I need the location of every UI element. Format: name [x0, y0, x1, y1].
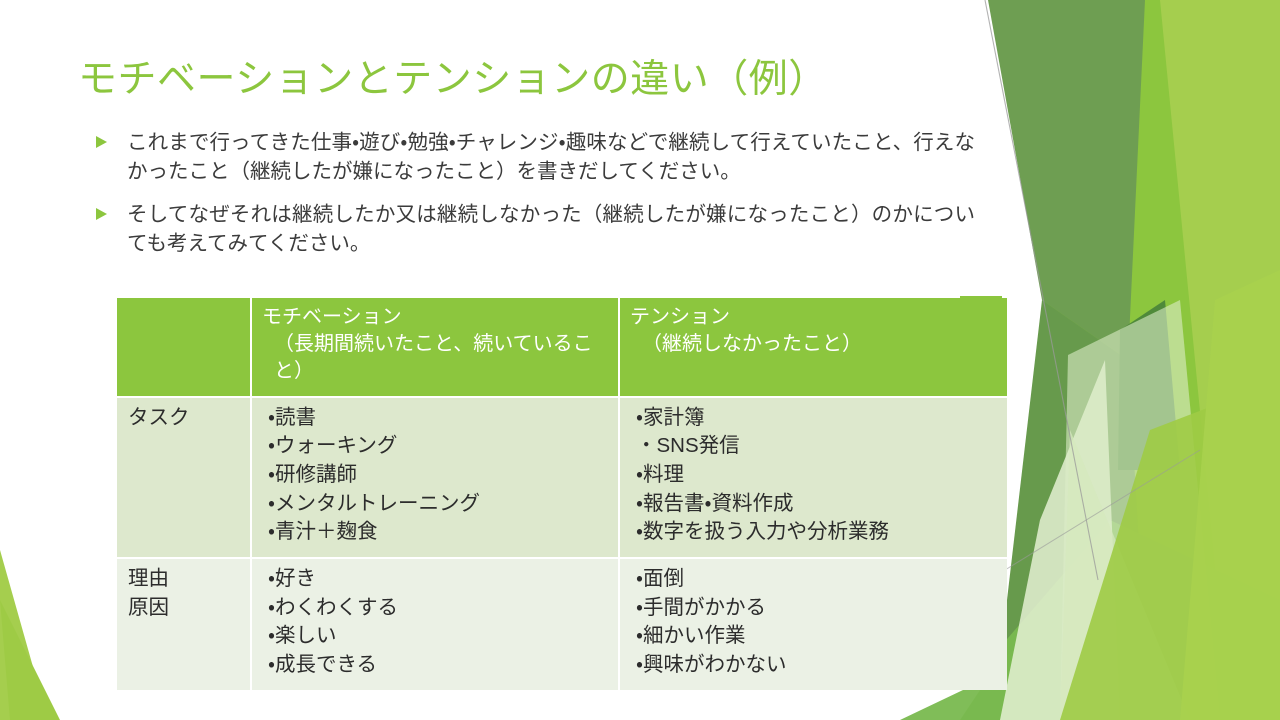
reason-motivation-list: ・好き ・わくわくする ・楽しい ・成長できる: [266, 565, 608, 680]
list-item: ・楽しい: [268, 622, 608, 651]
reason-tension-list: ・面倒 ・手間がかかる ・細かい作業 ・興味がわかない: [634, 565, 997, 680]
slide-title: モチベーションとテンションの違い（例）: [78, 57, 958, 103]
slide-content: モチベーションとテンションの違い（例） これまで行ってきた仕事・遊び・勉強・チャ…: [0, 0, 1280, 720]
list-item: ・興味がわかない: [636, 651, 997, 680]
task-tension-list: ・家計簿 ・SNS発信 ・料理 ・報告書・資料作成 ・数字を扱う入力や分析業務: [634, 404, 997, 547]
table-row: タスク ・読書 ・ウォーキング ・研修講師 ・メンタルトレーニング ・青汁＋麹食: [117, 398, 1007, 557]
table-cell-reason-tension: ・面倒 ・手間がかかる ・細かい作業 ・興味がわかない: [620, 559, 1007, 690]
table-header-motivation-main: モチベーション: [262, 306, 402, 328]
table-cell-reason-motivation: ・好き ・わくわくする ・楽しい ・成長できる: [252, 559, 618, 690]
list-item: ・家計簿: [636, 404, 997, 433]
list-item: ・好き: [268, 565, 608, 594]
list-item: ・研修講師: [268, 461, 608, 490]
triangle-right-bullet-icon: [95, 207, 108, 221]
list-item: ・面倒: [636, 565, 997, 594]
table-row: 理由 原因 ・好き ・わくわくする ・楽しい ・成長できる ・面倒: [117, 559, 1007, 690]
table-header-row: モチベーション （長期間続いたこと、続いていること） テンション （継続しなかっ…: [117, 298, 1007, 396]
table-header-tension-sub: （継続しなかったこと）: [630, 331, 997, 358]
table-header-tension-main: テンション: [630, 306, 730, 328]
list-item: ・数字を扱う入力や分析業務: [636, 518, 997, 547]
table-header-motivation-sub: （長期間続いたこと、続いていること）: [262, 331, 608, 385]
list-item: ・報告書・資料作成: [636, 490, 997, 519]
list-item: ・成長できる: [268, 651, 608, 680]
presentation-slide: モチベーションとテンションの違い（例） これまで行ってきた仕事・遊び・勉強・チャ…: [0, 0, 1280, 720]
bullet-list: これまで行ってきた仕事・遊び・勉強・チャレンジ・趣味などで継続して行えていたこと…: [95, 128, 975, 272]
table-header-tension: テンション （継続しなかったこと）: [620, 298, 1007, 396]
list-item: ・メンタルトレーニング: [268, 490, 608, 519]
bullet-item: これまで行ってきた仕事・遊び・勉強・チャレンジ・趣味などで継続して行えていたこと…: [95, 128, 975, 186]
triangle-right-bullet-icon: [95, 135, 108, 149]
list-item: ・わくわくする: [268, 594, 608, 623]
table-row-label-reason: 理由 原因: [117, 559, 250, 690]
task-motivation-list: ・読書 ・ウォーキング ・研修講師 ・メンタルトレーニング ・青汁＋麹食: [266, 404, 608, 547]
list-item: ・細かい作業: [636, 622, 997, 651]
list-item: ・読書: [268, 404, 608, 433]
list-item: ・料理: [636, 461, 997, 490]
list-item: ・SNS発信: [636, 432, 997, 461]
table-cell-task-motivation: ・読書 ・ウォーキング ・研修講師 ・メンタルトレーニング ・青汁＋麹食: [252, 398, 618, 557]
bullet-text: そしてなぜそれは継続したか又は継続しなかった（継続したが嫌になったこと）のかにつ…: [127, 200, 975, 258]
bullet-item: そしてなぜそれは継続したか又は継続しなかった（継続したが嫌になったこと）のかにつ…: [95, 200, 975, 258]
table-row-label-task: タスク: [117, 398, 250, 557]
list-item: ・青汁＋麹食: [268, 518, 608, 547]
list-item: ・ウォーキング: [268, 432, 608, 461]
table-cell-task-tension: ・家計簿 ・SNS発信 ・料理 ・報告書・資料作成 ・数字を扱う入力や分析業務: [620, 398, 1007, 557]
comparison-table-wrapper: モチベーション （長期間続いたこと、続いていること） テンション （継続しなかっ…: [115, 296, 1001, 692]
list-item: ・手間がかかる: [636, 594, 997, 623]
bullet-text: これまで行ってきた仕事・遊び・勉強・チャレンジ・趣味などで継続して行えていたこと…: [127, 128, 975, 186]
table-header-motivation: モチベーション （長期間続いたこと、続いていること）: [252, 298, 618, 396]
table-header-blank: [117, 298, 250, 396]
comparison-table: モチベーション （長期間続いたこと、続いていること） テンション （継続しなかっ…: [115, 296, 1009, 692]
